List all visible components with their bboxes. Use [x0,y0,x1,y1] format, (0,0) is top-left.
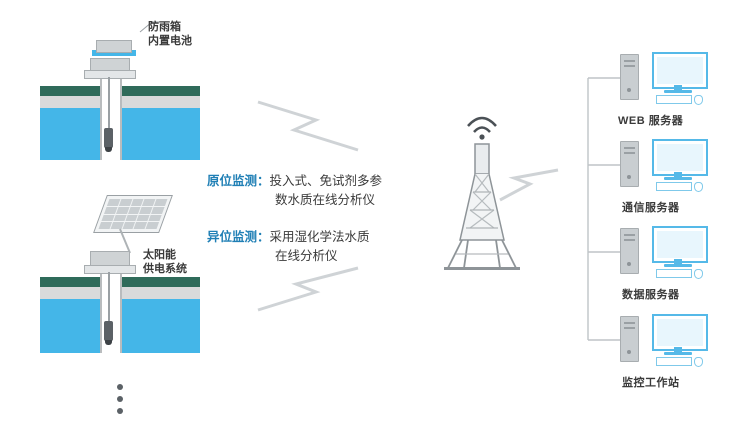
server-tower [620,141,639,187]
solar-cell [154,199,167,206]
ex-situ-monitoring-callout: 异位监测：采用湿化学法水质 在线分析仪 [207,228,447,266]
tower-vent-line [624,327,635,329]
monitor-workstation-label: 监控工作站 [622,374,680,390]
power-system-label: 供电系统 [143,262,187,276]
solar-label: 太阳能 [143,248,176,262]
monitor [652,52,708,89]
comm-server [612,135,732,197]
in-situ-monitoring-tag: 原位监测： [207,174,270,188]
tower-power-led [627,175,631,179]
server-tower [620,316,639,362]
sensor-tip-top [105,147,112,152]
ex-situ-monitoring-line-1: 采用湿化学法水质 [270,230,370,244]
tower-vent-line [624,239,635,241]
keyboard [656,182,692,191]
mouse [694,357,703,367]
monitor-base [664,352,692,355]
ellipsis-dot [117,396,123,402]
submersible-sensor-top [104,128,113,148]
ellipsis-dot [117,408,123,414]
in-situ-monitoring-line-2: 数水质在线分析仪 [207,191,375,210]
instrument-housing-base-top [84,70,136,79]
comm-server-label: 通信服务器 [622,199,680,215]
station-top [40,28,200,168]
built-in-battery-label: 内置电池 [148,34,192,48]
sensor-cable-bottom [108,272,110,326]
sensor-tip-bottom [105,340,112,345]
ex-situ-monitoring-tag: 异位监测： [207,230,270,244]
ex-situ-monitoring-line-2: 在线分析仪 [207,247,338,266]
tower-vent-line [624,65,635,67]
monitor [652,139,708,176]
tower-vent-line [624,322,635,324]
rain-box-body-top [96,40,132,53]
solar-cell [151,207,164,214]
server-tower [620,228,639,274]
monitor [652,226,708,263]
in-situ-monitoring-line-1: 投入式、免试剂多参 [270,174,383,188]
tower-power-led [627,262,631,266]
data-server [612,222,732,284]
mouse [694,95,703,105]
keyboard [656,269,692,278]
monitor-screen [657,57,703,84]
keyboard [656,95,692,104]
monitor-screen [657,319,703,346]
station-bottom [40,195,210,360]
monitor-base [664,90,692,93]
web-server [612,48,732,110]
transmission-tower-graphic [430,100,540,280]
monitor-screen [657,144,703,171]
server-tower [620,54,639,100]
tower-vent-line [624,234,635,236]
tower-vent-line [624,60,635,62]
monitor-workstation [612,310,732,372]
in-situ-monitoring-callout: 原位监测：投入式、免试剂多参 数水质在线分析仪 [207,172,447,210]
tower-vent-line [624,152,635,154]
submersible-sensor-bottom [104,321,113,341]
tower-vent-line [624,147,635,149]
signal-path-bottom [258,268,458,338]
monitor-base [664,177,692,180]
tower-power-led [627,88,631,92]
monitor [652,314,708,351]
monitor-screen [657,231,703,258]
rain-box-label: 防雨箱 [148,20,181,34]
mouse [694,269,703,279]
web-server-label: WEB 服务器 [618,112,683,128]
tower-power-led [627,350,631,354]
signal-path-top [258,92,458,162]
instrument-cabinet-base-bottom [84,265,136,274]
solar-panel-grid [99,199,168,229]
transmission-tower [430,100,540,280]
sensor-cable-top [108,77,110,133]
more-stations-ellipsis [117,378,123,420]
data-server-label: 数据服务器 [622,286,680,302]
keyboard [656,357,692,366]
ellipsis-dot [117,384,123,390]
solar-cell [149,215,162,222]
monitor-base [664,264,692,267]
mouse [694,182,703,192]
